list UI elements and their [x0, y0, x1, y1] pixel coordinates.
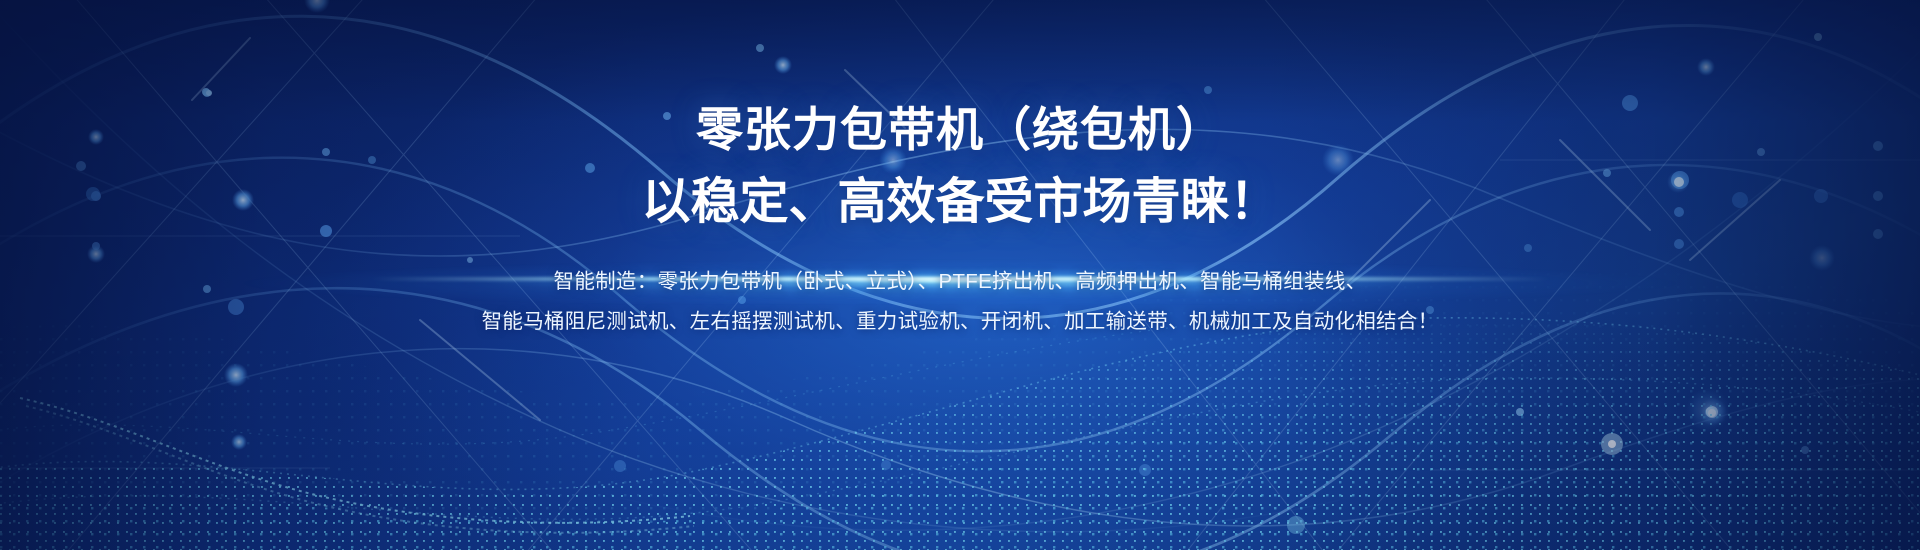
subtitle-line-1: 智能制造：零张力包带机（卧式、立式）、PTFE挤出机、高频押出机、智能马桶组装线…: [482, 262, 1439, 302]
headline-line-2: 以稳定、高效备受市场青睐！: [641, 169, 1278, 235]
banner-content: 零张力包带机（绕包机） 以稳定、高效备受市场青睐！ 智能制造：零张力包带机（卧式…: [0, 0, 1920, 550]
promo-banner: 零张力包带机（绕包机） 以稳定、高效备受市场青睐！ 智能制造：零张力包带机（卧式…: [0, 0, 1920, 550]
subtitle-block: 智能制造：零张力包带机（卧式、立式）、PTFE挤出机、高频押出机、智能马桶组装线…: [482, 262, 1439, 342]
subtitle-line-2: 智能马桶阻尼测试机、左右摇摆测试机、重力试验机、开闭机、加工输送带、机械加工及自…: [482, 302, 1439, 342]
headline-line-1: 零张力包带机（绕包机）: [696, 98, 1224, 161]
